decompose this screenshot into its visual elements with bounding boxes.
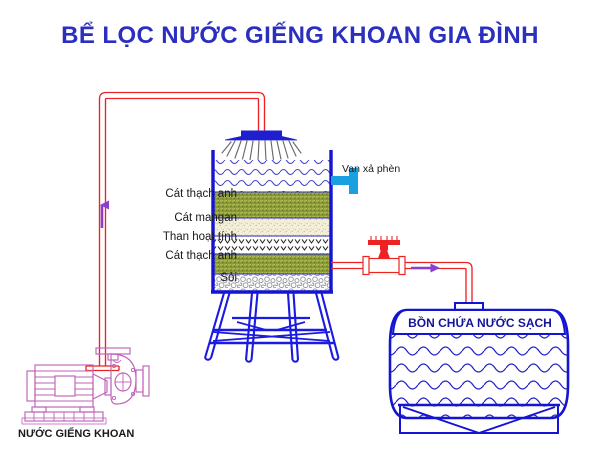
valve-handwheel [368, 240, 400, 245]
layer-label-quartz-upper: Cát thạch anh [165, 189, 237, 201]
filter-tank-stand [205, 293, 339, 362]
sprinkler-head [222, 131, 301, 161]
diagram-canvas: BỂ LỌC NƯỚC GIẾNG KHOAN GIA ĐÌNH [0, 0, 600, 455]
system-schematic [0, 0, 600, 455]
pump-source-label: NƯỚC GIẾNG KHOAN [18, 428, 134, 440]
layer-label-gravel: Sỏi [220, 273, 237, 285]
storage-tank-label: BỒN CHỨA NƯỚC SẠCH [400, 316, 560, 330]
drain-valve-label: Van xả phèn [342, 163, 400, 175]
pump-assembly [25, 348, 149, 421]
gate-valve[interactable] [363, 236, 405, 275]
layer-label-carbon: Than hoạt tính [163, 232, 237, 244]
layer-label-manganese: Cát mangan [174, 213, 237, 225]
spray-lines [222, 141, 301, 161]
layer-label-quartz-lower: Cát thạch anh [165, 251, 237, 263]
